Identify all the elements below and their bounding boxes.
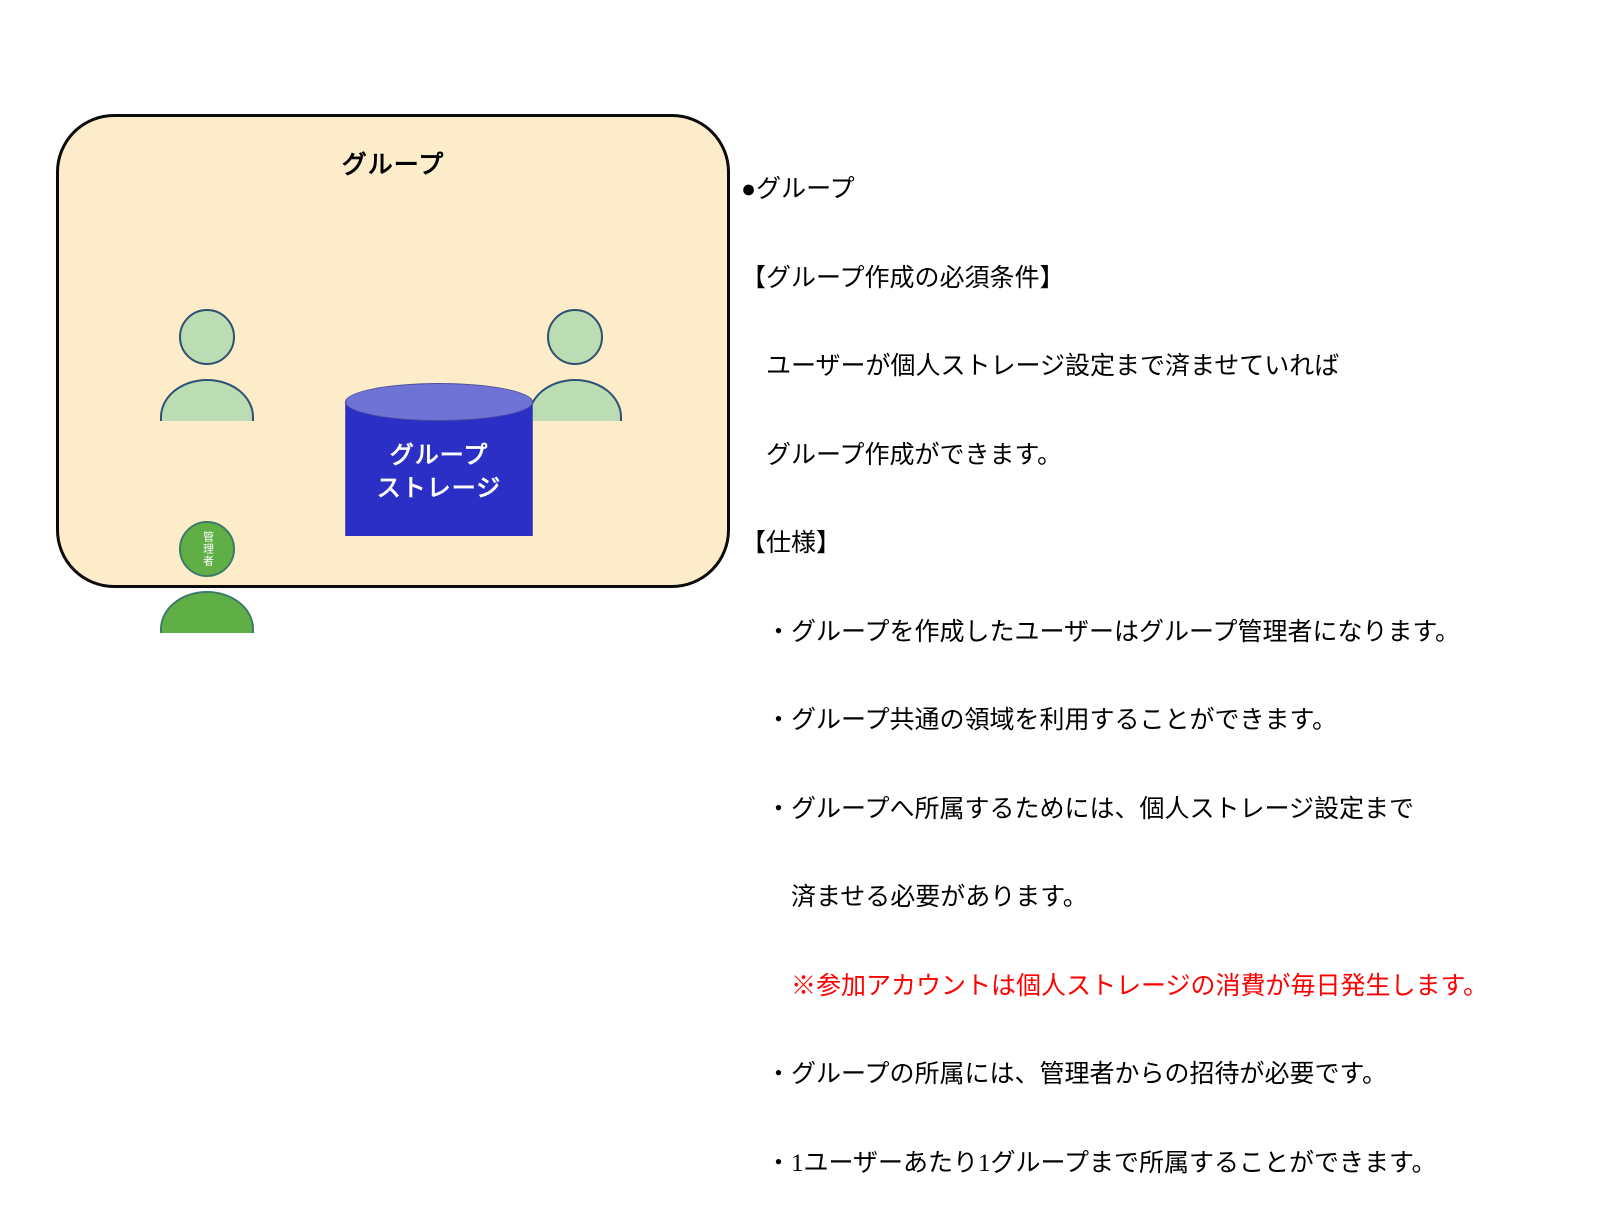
storage-label-line1: グループ bbox=[390, 442, 489, 469]
notes-warning-line: ※参加アカウントは個人ストレージの消費が毎日発生します。 bbox=[741, 972, 1571, 1002]
group-container: グループ 管理者 グループ ストレージ bbox=[56, 114, 730, 588]
admin-label: 管理者 bbox=[201, 531, 214, 567]
storage-label: グループ ストレージ bbox=[345, 439, 533, 505]
notes-line: ・グループへ所属するためには、個人ストレージ設定まで bbox=[741, 795, 1571, 825]
storage-label-line2: ストレージ bbox=[377, 475, 502, 502]
group-storage-cylinder-icon: グループ ストレージ bbox=[345, 383, 533, 554]
notes-block: ●グループ 【グループ作成の必須条件】 ユーザーが個人ストレージ設定まで済ませて… bbox=[741, 116, 1571, 1208]
cylinder-top bbox=[345, 383, 533, 421]
person-body-icon bbox=[160, 591, 254, 633]
member-avatar-right bbox=[528, 309, 622, 421]
notes-line: ・グループ共通の領域を利用することができます。 bbox=[741, 706, 1571, 736]
notes-section1-title: 【グループ作成の必須条件】 bbox=[741, 264, 1571, 294]
person-head-icon: 管理者 bbox=[179, 521, 235, 577]
admin-avatar: 管理者 bbox=[160, 521, 254, 633]
notes-section2-title: 【仕様】 bbox=[741, 529, 1571, 559]
member-avatar-left bbox=[160, 309, 254, 421]
notes-line: ・グループの所属には、管理者からの招待が必要です。 bbox=[741, 1060, 1571, 1090]
person-body-icon bbox=[160, 379, 254, 421]
notes-line: グループ作成ができます。 bbox=[741, 441, 1571, 471]
notes-line: ・グループを作成したユーザーはグループ管理者になります。 bbox=[741, 618, 1571, 648]
group-title: グループ bbox=[59, 145, 727, 181]
notes-heading: ●グループ bbox=[741, 175, 1571, 205]
person-body-icon bbox=[528, 379, 622, 421]
notes-line: ・1ユーザーあたり1グループまで所属することができます。 bbox=[741, 1149, 1571, 1179]
notes-line: ユーザーが個人ストレージ設定まで済ませていれば bbox=[741, 352, 1571, 382]
person-head-icon bbox=[179, 309, 235, 365]
person-head-icon bbox=[547, 309, 603, 365]
notes-line: 済ませる必要があります。 bbox=[741, 883, 1571, 913]
